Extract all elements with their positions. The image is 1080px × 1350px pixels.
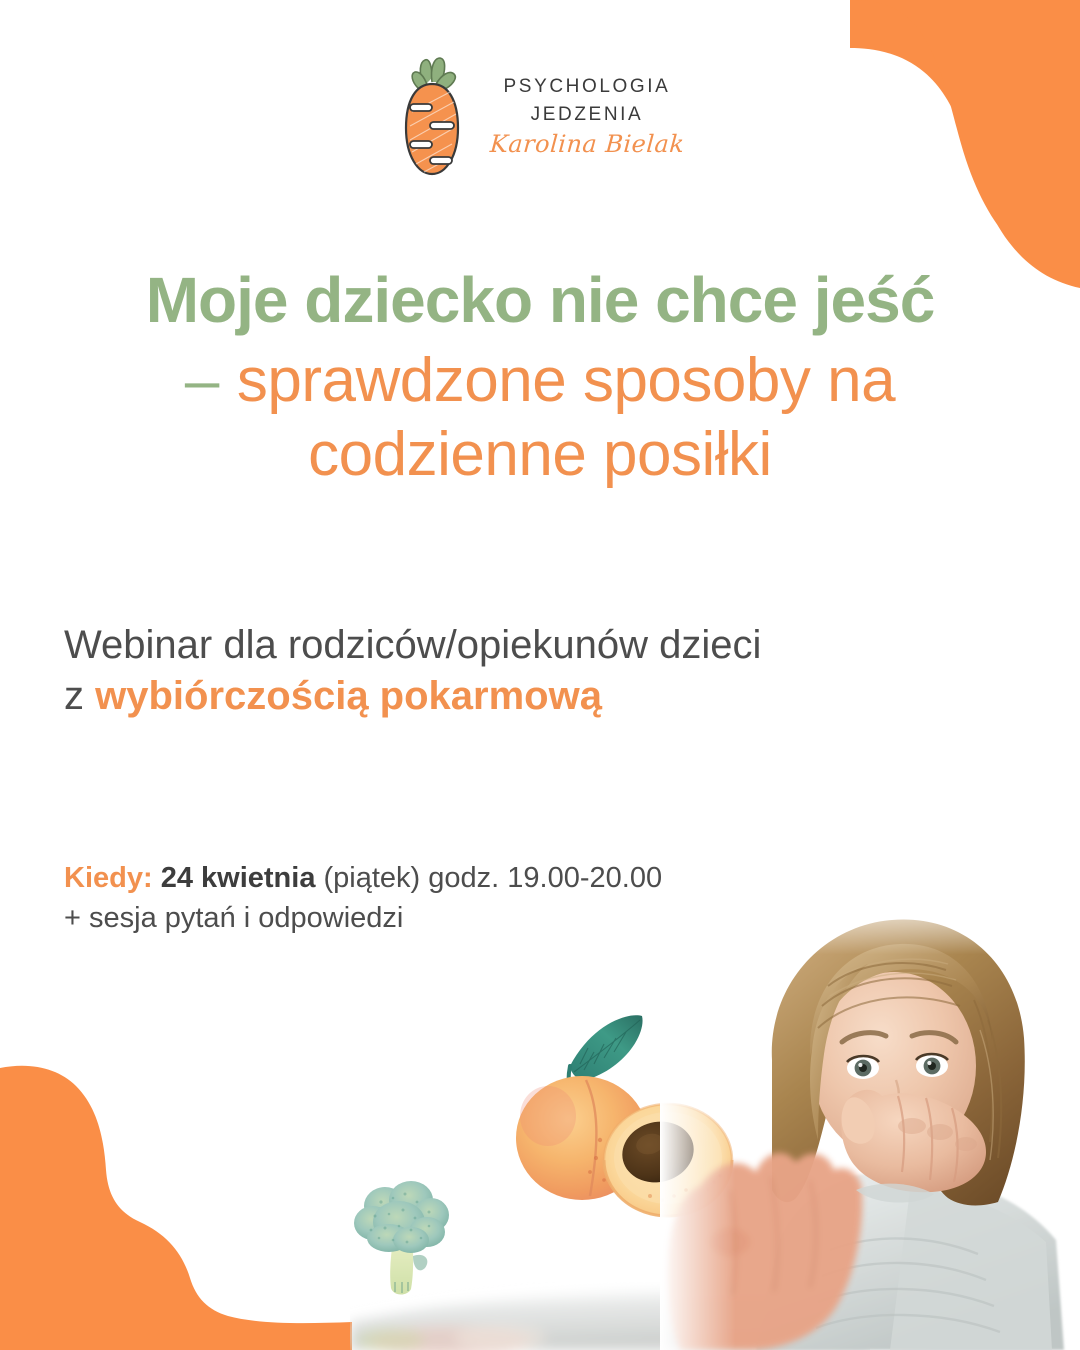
poster-canvas: PSYCHOLOGIA JEDZENIA Karolina Bielak Moj… (0, 0, 1080, 1350)
when-label: Kiedy: (64, 862, 153, 894)
title-line-3: codzienne posiłki (60, 423, 1020, 486)
subtitle: Webinar dla rodziców/opiekunów dzieci z … (64, 620, 1004, 722)
title-line-1: Moje dziecko nie chce jeść (60, 268, 1020, 333)
page-title: Moje dziecko nie chce jeść –sprawdzone s… (60, 268, 1020, 486)
brand-line-2: JEDZENIA (531, 105, 644, 124)
event-time: (piątek) godz. 19.00-20.00 (324, 862, 663, 894)
brand-line-1: PSYCHOLOGIA (504, 77, 671, 96)
brand-signature: Karolina Bielak (489, 132, 685, 156)
title-line-2: –sprawdzone sposoby na (60, 349, 1020, 412)
event-date: 24 kwietnia (161, 862, 316, 894)
child-covering-mouth-photo (660, 890, 1080, 1350)
title-line-2-text: sprawdzone sposoby na (237, 346, 895, 415)
orange-blob-bottom-left (0, 1066, 352, 1350)
subtitle-lead: Webinar dla rodziców/opiekunów dzieci (64, 623, 761, 667)
subtitle-emphasis: wybiórczością pokarmową (95, 674, 602, 718)
brand-logo: PSYCHOLOGIA JEDZENIA Karolina Bielak (0, 52, 1080, 180)
carrot-icon (396, 52, 468, 180)
subtitle-prefix: z (64, 674, 95, 718)
brand-wordmark: PSYCHOLOGIA JEDZENIA Karolina Bielak (490, 77, 684, 156)
title-dash: – (185, 346, 219, 415)
event-extra: + sesja pytań i odpowiedzi (64, 902, 403, 934)
